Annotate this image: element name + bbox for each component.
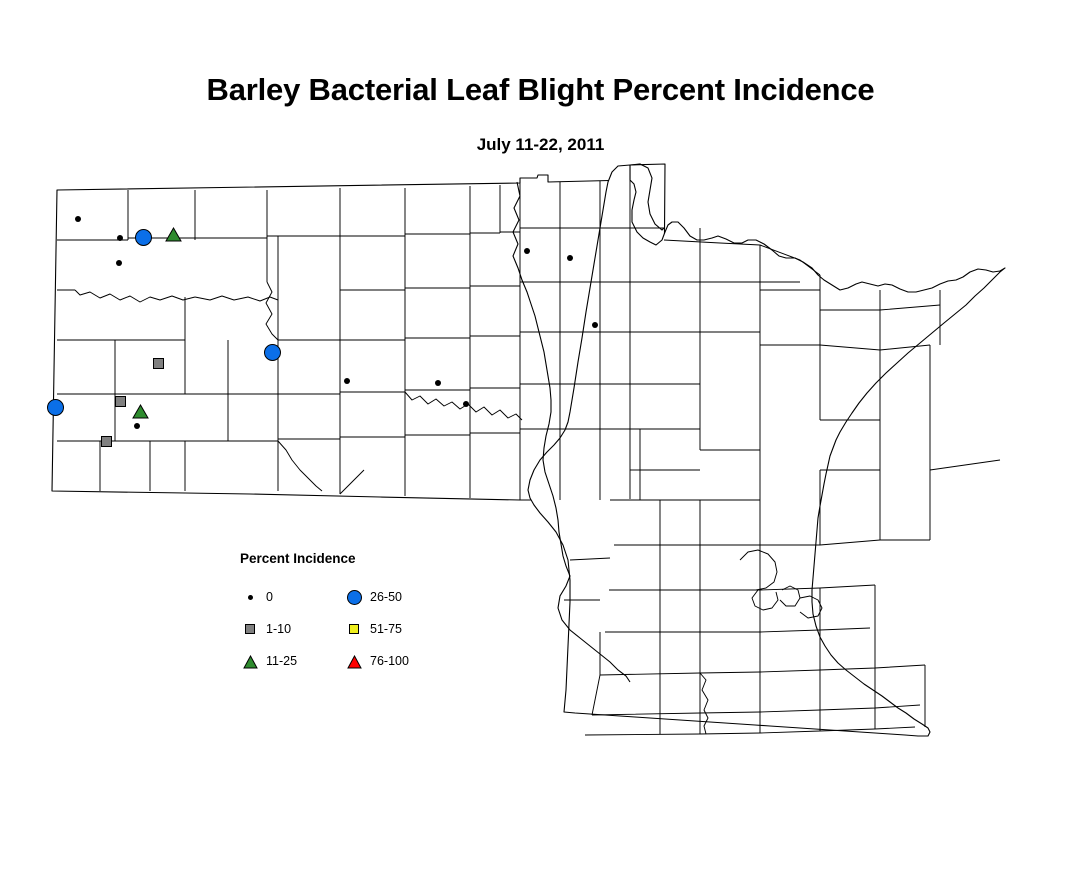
map-point-0 <box>524 248 530 254</box>
square-icon <box>349 624 359 634</box>
map-point-0 <box>567 255 573 261</box>
map-point-11-25 <box>165 227 182 242</box>
triangle-icon <box>243 655 258 669</box>
map-point-0 <box>463 401 469 407</box>
map-point-1-10 <box>101 436 112 447</box>
map-point-26-50 <box>135 229 152 246</box>
legend-item-label: 1-10 <box>266 622 291 636</box>
map-point-0 <box>117 235 123 241</box>
legend-item-label: 51-75 <box>370 622 402 636</box>
map-point-0 <box>435 380 441 386</box>
triangle-icon <box>347 655 362 669</box>
circle-icon <box>347 590 362 605</box>
legend-item-label: 76-100 <box>370 654 409 668</box>
legend: Percent Incidence 01-1011-2526-5051-7576… <box>232 548 452 678</box>
map-point-26-50 <box>47 399 64 416</box>
legend-triangle-icon <box>240 650 262 672</box>
legend-title: Percent Incidence <box>240 551 356 566</box>
map-point-26-50 <box>264 344 281 361</box>
map-point-0 <box>344 378 350 384</box>
legend-item-label: 0 <box>266 590 273 604</box>
legend-item-label: 26-50 <box>370 590 402 604</box>
map-point-0 <box>116 260 122 266</box>
state-county-map <box>0 0 1081 878</box>
square-icon <box>245 624 255 634</box>
map-point-0 <box>75 216 81 222</box>
map-point-0 <box>134 423 140 429</box>
legend-dot-icon <box>240 586 262 608</box>
legend-square-icon <box>344 618 366 640</box>
map-page: Barley Bacterial Leaf Blight Percent Inc… <box>0 0 1081 878</box>
dot-icon <box>248 595 253 600</box>
legend-circle-icon <box>344 586 366 608</box>
map-point-11-25 <box>132 404 149 419</box>
map-point-0 <box>592 322 598 328</box>
legend-item-label: 11-25 <box>266 654 297 668</box>
map-point-1-10 <box>153 358 164 369</box>
legend-triangle-icon <box>344 650 366 672</box>
map-point-1-10 <box>115 396 126 407</box>
legend-square-icon <box>240 618 262 640</box>
